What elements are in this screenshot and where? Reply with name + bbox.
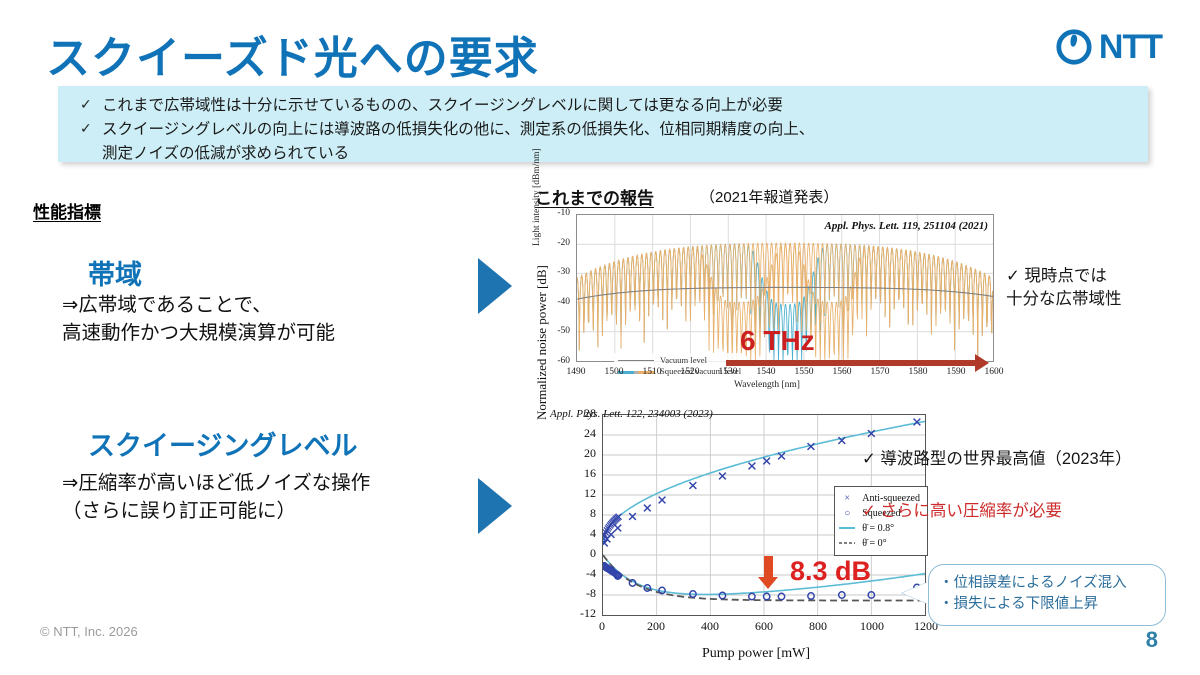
chart-squeezing-ytick: 0: [562, 546, 596, 561]
chart-spectrum-ytick: -20: [544, 238, 570, 248]
annotation-83db-arrow-icon: [764, 556, 773, 578]
summary-bullet-2-text-cont: 測定ノイズの低減が求められている: [102, 142, 1148, 166]
note-need-higher: ✓ さらに高い圧縮率が必要: [862, 500, 1062, 523]
chart-squeezing-ytick: -12: [562, 606, 596, 621]
chart-spectrum-xtick: 1570: [871, 367, 890, 377]
chart-spectrum-xtick: 1510: [643, 367, 662, 377]
chart-spectrum-xtick: 1530: [719, 367, 738, 377]
chart-squeezing-xtick: 400: [701, 619, 719, 634]
figures-subtitle: （2021年報道発表）: [700, 186, 838, 207]
summary-bullet-2-text: スクイージングレベルの向上には導波路の低損失化の他に、測定系の低損失化、位相同期…: [102, 121, 814, 138]
chart-spectrum-ytick: -10: [544, 208, 570, 218]
chart-spectrum-xtick: 1520: [681, 367, 700, 377]
metric-heading-squeezing: スクイージングレベル: [88, 424, 357, 463]
legend-swatch-vacuum: [618, 360, 654, 361]
chart-spectrum-xtick: 1590: [947, 367, 966, 377]
note-world-record: ✓ 導波路型の世界最高値（2023年）: [862, 448, 1132, 471]
legend-marker-o: ○: [839, 506, 855, 521]
arrow-right-icon: [478, 258, 512, 314]
annotation-6thz-label: 6 THz: [740, 325, 815, 357]
ntt-mark-icon: [1055, 28, 1093, 66]
chart-squeezing-ytick: 8: [562, 506, 596, 521]
chart-squeezing-xtick: 0: [599, 619, 605, 634]
legend-label-theta0: θ̄ = 0°: [862, 536, 886, 551]
chart-spectrum-xtick: 1550: [795, 367, 814, 377]
summary-bullet-1-text: これまで広帯域性は十分に示せているものの、スクイージングレベルに関しては更なる向…: [102, 97, 783, 114]
arrow-right-icon: [478, 478, 512, 534]
chart-squeezing-ytick: 4: [562, 526, 596, 541]
chart-spectrum-xtick: 1580: [909, 367, 928, 377]
legend-line-solid: [839, 521, 855, 536]
chart-squeezing-xtick: 1000: [860, 619, 884, 634]
chart-squeezing-ytick: -4: [562, 566, 596, 581]
figures-title: これまでの報告: [535, 184, 654, 209]
chart-squeezing-ytick: 16: [562, 466, 596, 481]
chart-squeezing-ytick: 12: [562, 486, 596, 501]
chart-spectrum-ylabel: Light intensity [dBm/nm]: [532, 148, 542, 246]
page-number: 8: [1146, 627, 1158, 653]
page-title: スクイーズド光への要求: [46, 22, 539, 86]
legend-line-dashed: [839, 536, 855, 551]
legend-label-vacuum: Vacuum level: [660, 355, 707, 367]
callout-bubble: ・位相誤差によるノイズ混入 ・損失による下限値上昇: [928, 564, 1166, 626]
chart-spectrum-xlabel: Wavelength [nm]: [536, 380, 998, 390]
slide-root: スクイーズド光への要求 NTT ✓ これまで広帯域性は十分に示せているものの、ス…: [0, 0, 1200, 675]
chart-squeezing-ytick: 24: [562, 426, 596, 441]
summary-bullet-2: ✓ スクイージングレベルの向上には導波路の低損失化の他に、測定系の低損失化、位相…: [58, 118, 1148, 166]
chart-squeezing-ytick: 20: [562, 446, 596, 461]
summary-band: ✓ これまで広帯域性は十分に示せているものの、スクイージングレベルに関しては更な…: [58, 86, 1148, 162]
summary-bullet-1: ✓ これまで広帯域性は十分に示せているものの、スクイージングレベルに関しては更な…: [58, 94, 1148, 118]
annotation-6thz-arrow-icon: [726, 360, 976, 366]
metric-body-bandwidth: ⇒広帯域であることで、 高速動作かつ大規模演算が可能: [62, 292, 335, 347]
chart-squeezing-xlabel: Pump power [mW]: [576, 646, 936, 662]
chart-squeezing-ytick: 28: [562, 406, 596, 421]
copyright-text: © NTT, Inc. 2026: [40, 624, 138, 639]
callout-tail-icon: [902, 582, 928, 604]
chart-squeezing: Normalized noise power [dB] Appl. Phys. …: [536, 400, 936, 662]
chart-squeezing-xtick: 600: [755, 619, 773, 634]
chart-squeezing-ylabel: Normalized noise power [dB]: [534, 265, 550, 420]
chart-spectrum-citation: Appl. Phys. Lett. 119, 251104 (2021): [825, 220, 988, 232]
legend-marker-x: ×: [839, 491, 855, 506]
chart-spectrum-xtick: 1540: [757, 367, 776, 377]
ntt-wordmark: NTT: [1099, 30, 1162, 64]
chart-squeezing-xtick: 200: [647, 619, 665, 634]
chart-squeezing-ytick: -8: [562, 586, 596, 601]
chart-spectrum-xtick: 1500: [605, 367, 624, 377]
check-icon: ✓: [80, 118, 92, 140]
annotation-83db-label: 8.3 dB: [790, 556, 871, 587]
check-icon: ✓: [80, 94, 92, 116]
legend-label-theta08: θ̄ = 0.8°: [862, 521, 894, 536]
metric-body-squeezing: ⇒圧縮率が高いほど低ノイズな操作 （さらに誤り訂正可能に）: [62, 470, 370, 525]
ntt-logo: NTT: [1055, 28, 1162, 66]
chart-squeezing-xtick: 800: [809, 619, 827, 634]
chart-spectrum-xtick: 1560: [833, 367, 852, 377]
metric-heading-bandwidth: 帯域: [88, 253, 142, 292]
note-bandwidth: ✓ 現時点では 十分な広帯域性: [1006, 265, 1122, 311]
performance-label: 性能指標: [33, 198, 101, 223]
chart-spectrum-xtick: 1490: [567, 367, 586, 377]
